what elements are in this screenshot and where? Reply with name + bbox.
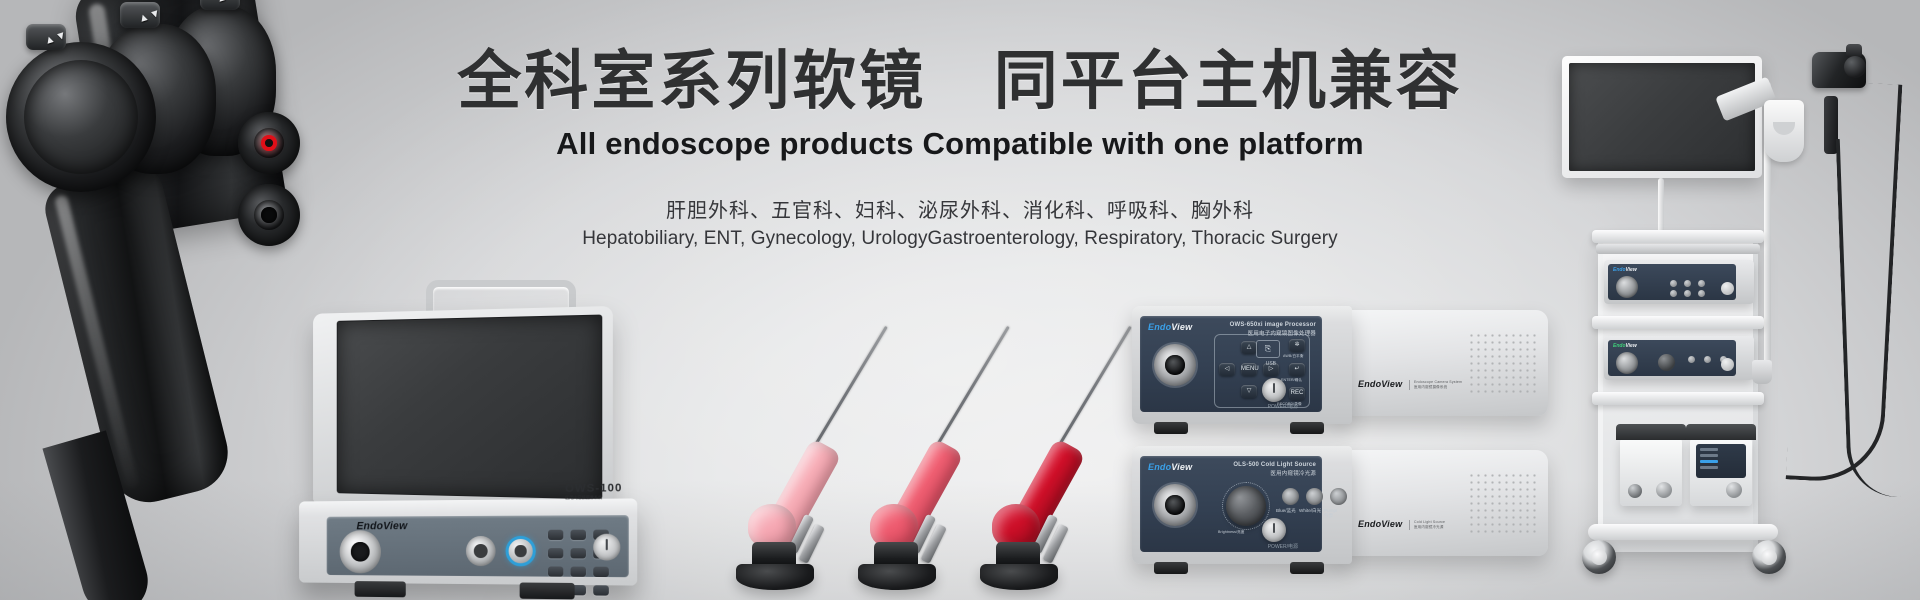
accessory-box-top [1686, 424, 1756, 440]
accessory-knob-secondary[interactable] [1726, 482, 1742, 498]
key-down[interactable]: ▽ [1241, 385, 1257, 398]
scope-stand-base [858, 564, 936, 590]
pump-label: Pump/气泵 [1324, 508, 1337, 519]
unit-foot [1154, 562, 1188, 574]
endoscope-product-banner: ▲▼ ▲▼ ▲▼ 全科室系列软镜 同平台主机兼容 All endoscope p… [0, 0, 1920, 600]
cart-light-button[interactable] [1688, 356, 1695, 363]
cart-light-source-power[interactable] [1721, 358, 1734, 371]
ows-model-sub: 医用内窥镜摄像系统 [565, 494, 622, 501]
cart-caster [1582, 540, 1616, 574]
cart-processor-button[interactable] [1698, 290, 1705, 297]
brand-view: View [1171, 462, 1192, 472]
brightness-knob[interactable] [1226, 486, 1266, 526]
brand-endo: Endo [1148, 322, 1171, 332]
light-source-model-label: OLS-500 Cold Light Source 医用内窥镜冷光源 [1233, 461, 1316, 478]
accessory-knob-secondary[interactable] [1656, 482, 1672, 498]
unit-foot [1290, 562, 1324, 574]
cart-light-source-logo: EndoView [1613, 343, 1637, 349]
blue-light-button[interactable] [1282, 488, 1299, 505]
side-brand-text: EndoView [1358, 519, 1402, 529]
brand-view: View [1171, 322, 1192, 332]
light-source-brand-logo: EndoView [1148, 462, 1192, 472]
cart-processor-power[interactable] [1721, 282, 1734, 295]
unit-foot [1290, 422, 1324, 434]
processor-panel: EndoView OWS-650xi image Processor 医用电子内… [1140, 316, 1322, 412]
keypad-key[interactable] [570, 529, 585, 539]
side-sub-1: Endoscope Camera System [1414, 380, 1462, 384]
cart-processor-port[interactable] [1616, 276, 1638, 298]
light-source-side-panel: EndoView Cold Light Source 医用内窥镜冷光源 [1340, 450, 1548, 556]
vent-grille-icon [1468, 472, 1538, 534]
key-left[interactable]: ◁ [1219, 363, 1235, 376]
key-enter-label: ENTER/确认 [1281, 378, 1302, 383]
accessory-knob[interactable] [1628, 484, 1642, 498]
light-source-panel: EndoView OLS-500 Cold Light Source 医用内窥镜… [1140, 456, 1322, 552]
key-up[interactable]: △ [1241, 341, 1257, 354]
departments-cn: 肝胆外科、五官科、妇科、泌尿外科、消化科、呼吸科、胸外科 [0, 196, 1920, 226]
side-sub-2: 医用内窥镜摄像系统 [1414, 385, 1447, 389]
headline-cn-part1: 全科室系列软镜 [457, 45, 926, 117]
cart-accessory-box-right [1690, 438, 1752, 506]
console-foot [355, 581, 406, 597]
ows-model-label: OWS-100 医用内窥镜摄像系统 [565, 482, 622, 501]
side-brand-text: EndoView [1358, 379, 1402, 389]
cart-light-source-panel: EndoView [1608, 340, 1736, 376]
side-sub-1: Cold Light Source [1414, 520, 1445, 524]
cart-processor-button[interactable] [1670, 280, 1677, 287]
departments-en: Hepatobiliary, ENT, Gynecology, UrologyG… [0, 228, 1920, 250]
cart-processor-button[interactable] [1698, 280, 1705, 287]
scope-connector-port[interactable] [1154, 344, 1196, 386]
cart-caster [1752, 540, 1786, 574]
headline-block: 全科室系列软镜 同平台主机兼容 All endoscope products C… [0, 46, 1920, 250]
processor-side-brand: EndoView Endoscope Camera System 医用内窥镜摄像… [1358, 379, 1462, 390]
key-awb[interactable]: ✲ [1289, 339, 1305, 352]
image-processor-unit: EndoView Endoscope Camera System 医用内窥镜摄像… [1128, 306, 1548, 424]
side-sub-2: 医用内窥镜冷光源 [1414, 525, 1444, 529]
pump-button[interactable] [1330, 488, 1347, 505]
white-light-label: White/白光 [1299, 508, 1321, 514]
stacked-units: EndoView Endoscope Camera System 医用内窥镜摄像… [1128, 306, 1548, 574]
processor-power-button[interactable] [1262, 378, 1286, 402]
key-menu[interactable]: MENU [1241, 363, 1257, 376]
vent-grille-icon [1468, 332, 1538, 394]
cart-processor-logo: EndoView [1613, 267, 1637, 273]
keypad-key[interactable] [594, 585, 610, 595]
cart-light-button[interactable] [1704, 356, 1711, 363]
keypad-key[interactable] [570, 566, 585, 576]
unit-foot [1154, 422, 1188, 434]
usb-label: USB [1266, 361, 1276, 367]
cart-processor-unit: EndoView [1604, 260, 1754, 304]
keypad-key[interactable] [570, 548, 585, 558]
keypad-key[interactable] [547, 548, 562, 558]
page-title: 全科室系列软镜 同平台主机兼容 [0, 46, 1920, 118]
ows-power-button[interactable] [593, 534, 620, 561]
scope-stand-base [736, 564, 814, 590]
scope-connector-port[interactable] [340, 530, 381, 573]
brightness-label: Brightness/亮度 [1218, 530, 1244, 535]
brand-endo: Endo [1148, 462, 1171, 472]
light-source-power-button[interactable] [1262, 518, 1286, 542]
cart-processor-button[interactable] [1684, 290, 1691, 297]
accessory-box-top [1616, 424, 1686, 440]
processor-brand-logo: EndoView [1148, 322, 1192, 332]
light-source-side-brand: EndoView Cold Light Source 医用内窥镜冷光源 [1358, 519, 1445, 530]
keypad-key[interactable] [547, 529, 562, 539]
cart-accessory-box-left [1620, 438, 1682, 506]
light-guide-port[interactable] [466, 536, 496, 566]
processor-side-panel: EndoView Endoscope Camera System 医用内窥镜摄像… [1340, 310, 1548, 416]
light-source-unit: EndoView Cold Light Source 医用内窥镜冷光源 Endo… [1128, 446, 1548, 564]
key-enter[interactable]: ↵ [1289, 363, 1305, 376]
ows-model-text: OWS-100 [565, 482, 622, 495]
cart-processor-button[interactable] [1670, 290, 1677, 297]
cart-processor-button[interactable] [1684, 280, 1691, 287]
cart-shelf-bottom [1592, 392, 1764, 405]
headline-cn-part2: 同平台主机兼容 [994, 45, 1463, 117]
processor-power-label: POWER/电源 [1268, 403, 1298, 410]
processor-front: EndoView OWS-650xi image Processor 医用电子内… [1132, 306, 1352, 424]
camera-head-port[interactable] [506, 536, 536, 566]
light-guide-port[interactable] [1154, 484, 1196, 526]
cart-light-guide-port[interactable] [1616, 352, 1638, 374]
cart-light-source-unit: EndoView [1604, 336, 1754, 380]
light-source-model-cn: 医用内窥镜冷光源 [1270, 471, 1316, 477]
scope-holder-cup [1752, 360, 1772, 384]
light-source-front: EndoView OLS-500 Cold Light Source 医用内窥镜… [1132, 446, 1352, 564]
light-source-power-label: POWER/电源 [1268, 543, 1298, 550]
accessory-display [1696, 444, 1746, 478]
white-light-button[interactable] [1306, 488, 1323, 505]
keypad-key[interactable] [547, 566, 562, 576]
cart-base-plate [1588, 524, 1778, 540]
blue-light-label: Blue/蓝光 [1276, 508, 1296, 514]
cart-shelf-middle [1592, 316, 1764, 329]
cart-brightness-knob[interactable] [1658, 354, 1675, 371]
headline-en: All endoscope products Compatible with o… [0, 126, 1920, 162]
scope-stand-base [980, 564, 1058, 590]
light-source-model-en: OLS-500 Cold Light Source [1233, 461, 1316, 470]
keypad-key[interactable] [594, 566, 610, 576]
rigid-endoscope-red [956, 292, 1136, 592]
usb-port-icon[interactable]: ⎘ [1256, 340, 1280, 358]
processor-model-en: OWS-650xi image Processor [1230, 321, 1316, 330]
console-foot [520, 582, 575, 599]
cart-processor-panel: EndoView [1608, 264, 1736, 300]
key-awb-label: AWB/白平衡 [1283, 354, 1304, 359]
key-record[interactable]: REC [1289, 387, 1305, 400]
